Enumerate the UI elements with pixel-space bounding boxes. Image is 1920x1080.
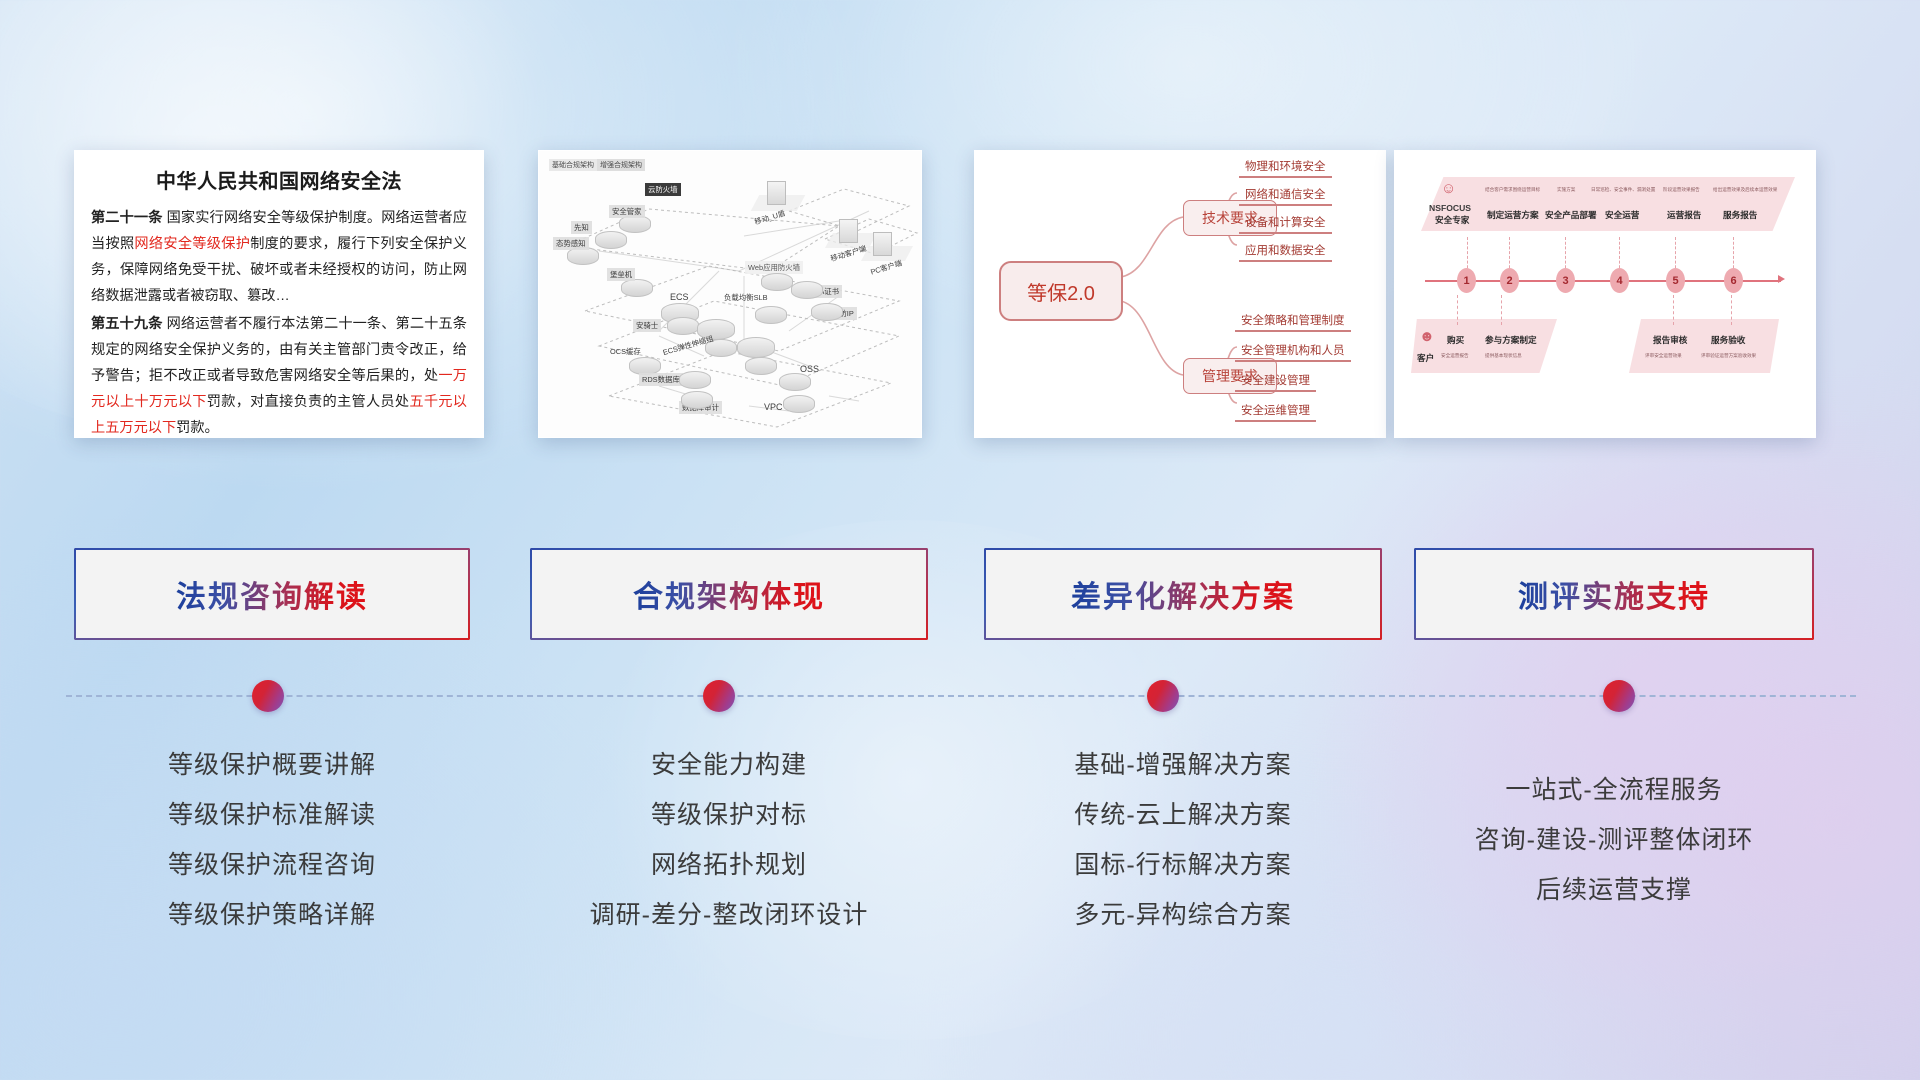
arch-disk-icon-10 <box>667 317 699 335</box>
detail-column-4: 一站式-全流程服务 咨询-建设-测评整体闭环 后续运营支撑 <box>1414 740 1814 915</box>
arch-disk-icon-2 <box>595 231 627 249</box>
arch-node-vpc[interactable]: VPC <box>761 401 786 413</box>
bottom-sub-2: 评审安全运营效果 <box>1645 353 1682 359</box>
bottom-sub-1: 提供基本现状信息 <box>1485 353 1522 359</box>
mindmap-leaf-network-comm[interactable]: 网络和通信安全 <box>1239 185 1332 206</box>
top-sub-0: 结合客户需求围绕运营目标 <box>1485 187 1540 193</box>
nav-box-compliance-architecture[interactable]: 合规架构体现 <box>530 548 928 640</box>
list-item: 咨询-建设-测评整体闭环 <box>1414 815 1814 865</box>
arch-node-anqishi[interactable]: 安骑士 <box>633 319 661 332</box>
timeline-band-vendor <box>1421 177 1795 231</box>
list-item: 网络拓扑规划 <box>530 840 928 890</box>
list-item: 国标-行标解决方案 <box>984 840 1382 890</box>
top-sub-2: 日常巡检、安全事件、漏洞处置 <box>1591 187 1655 193</box>
mindmap-root[interactable]: 等保2.0 <box>999 261 1123 321</box>
arch-node-ocs-cache[interactable]: OCS缓存 <box>607 345 644 358</box>
arch-node-situation-awareness[interactable]: 态势感知 <box>553 237 589 250</box>
step-node-5[interactable]: 5 <box>1666 268 1685 293</box>
law-paragraph-1: 第二十一条 国家实行网络安全等级保护制度。网络运营者应当按照网络安全等级保护制度… <box>91 205 467 309</box>
top-label-3[interactable]: 运营报告 <box>1667 209 1701 221</box>
arch-server-icon-3 <box>873 232 892 256</box>
top-sub-1: 实施方案 <box>1557 187 1575 193</box>
bottom-label-2[interactable]: 报告审核 <box>1653 334 1687 346</box>
law-highlight: 网络安全等级保护 <box>134 236 250 252</box>
timeline-arrow-icon <box>1778 275 1785 283</box>
list-item: 安全能力构建 <box>530 740 928 790</box>
nav-box-differentiated-solution[interactable]: 差异化解决方案 <box>984 548 1382 640</box>
dashed-timeline-line <box>66 695 1856 697</box>
nav-label-3: 测评实施支持 <box>1518 572 1710 616</box>
arch-disk-icon-13 <box>737 337 775 358</box>
bottom-sub-3: 评审验证运营方案验收效果 <box>1701 353 1756 359</box>
cards-row: 中华人民共和国网络安全法 第二十一条 国家实行网络安全等级保护制度。网络运营者应… <box>0 150 1920 442</box>
mindmap-leaf-construction-mgmt[interactable]: 安全建设管理 <box>1235 371 1316 392</box>
nav-box-regulation-consulting[interactable]: 法规咨询解读 <box>74 548 470 640</box>
list-item: 多元-异构综合方案 <box>984 890 1382 940</box>
detail-list-2: 安全能力构建 等级保护对标 网络拓扑规划 调研-差分-整改闭环设计 <box>530 740 928 940</box>
detail-list-3: 基础-增强解决方案 传统-云上解决方案 国标-行标解决方案 多元-异构综合方案 <box>984 740 1382 940</box>
arch-node-cloud-firewall[interactable]: 云防火墙 <box>645 183 681 196</box>
mindmap-leaf-policy-system[interactable]: 安全策略和管理制度 <box>1235 311 1351 332</box>
connector-b4 <box>1731 295 1733 325</box>
arch-disk-icon-18 <box>779 373 811 391</box>
arch-server-icon-2 <box>839 219 858 243</box>
detail-column-2: 安全能力构建 等级保护对标 网络拓扑规划 调研-差分-整改闭环设计 <box>530 740 928 940</box>
timeline-canvas: ☺ NSFOCUS 安全专家 结合客户需求围绕运营目标 制定运营方案 实施方案 … <box>1395 151 1815 437</box>
customer-role: 客户 <box>1417 352 1434 364</box>
arch-tab-0[interactable]: 基础合规架构 <box>549 159 597 171</box>
arch-node-bastion-host[interactable]: 堡垒机 <box>607 268 635 281</box>
mindmap-canvas: 等保2.0 技术要求 物理和环境安全 网络和通信安全 设备和计算安全 应用和数据… <box>975 151 1385 437</box>
top-label-4[interactable]: 服务报告 <box>1723 209 1757 221</box>
bottom-label-0[interactable]: 购买 <box>1447 334 1464 346</box>
vendor-brand: NSFOCUS <box>1429 203 1471 213</box>
step-node-4[interactable]: 4 <box>1610 268 1629 293</box>
top-label-2[interactable]: 安全运营 <box>1605 209 1639 221</box>
list-item: 传统-云上解决方案 <box>984 790 1382 840</box>
mindmap-leaf-app-data[interactable]: 应用和数据安全 <box>1239 241 1332 262</box>
step-node-1[interactable]: 1 <box>1457 268 1476 293</box>
list-item: 等级保护流程咨询 <box>74 840 470 890</box>
timeline-dot-4[interactable] <box>1603 680 1635 712</box>
top-sub-3: 阶段运营效果报告 <box>1663 187 1700 193</box>
arch-disk-icon-5 <box>761 273 793 291</box>
nav-row: 法规咨询解读 合规架构体现 差异化解决方案 测评实施支持 <box>0 548 1920 642</box>
law-article-number: 第五十九条 <box>91 316 163 332</box>
nav-label-2: 差异化解决方案 <box>1071 572 1295 616</box>
arch-disk-icon-6 <box>791 281 823 299</box>
list-item: 等级保护概要讲解 <box>74 740 470 790</box>
law-paragraph-2: 第五十九条 网络运营者不履行本法第二十一条、第二十五条规定的网络安全保护义务的，… <box>91 311 467 438</box>
connector-b3 <box>1673 295 1675 325</box>
mindmap-leaf-physical-env[interactable]: 物理和环境安全 <box>1239 157 1332 178</box>
arch-node-security-butler[interactable]: 安全管家 <box>609 205 645 218</box>
detail-list-4: 一站式-全流程服务 咨询-建设-测评整体闭环 后续运营支撑 <box>1414 765 1814 915</box>
detail-lists: 等级保护概要讲解 等级保护标准解读 等级保护流程咨询 等级保护策略详解 安全能力… <box>0 740 1920 970</box>
list-item: 等级保护对标 <box>530 790 928 840</box>
timeline-dot-2[interactable] <box>703 680 735 712</box>
detail-column-1: 等级保护概要讲解 等级保护标准解读 等级保护流程咨询 等级保护策略详解 <box>74 740 470 940</box>
arch-disk-icon-19 <box>783 395 815 413</box>
mindmap-leaf-device-compute[interactable]: 设备和计算安全 <box>1239 213 1332 234</box>
arch-disk-icon-14 <box>745 357 777 375</box>
card-service-timeline[interactable]: ☺ NSFOCUS 安全专家 结合客户需求围绕运营目标 制定运营方案 实施方案 … <box>1394 150 1816 438</box>
law-title: 中华人民共和国网络安全法 <box>91 165 467 194</box>
card-mindmap[interactable]: 等保2.0 技术要求 物理和环境安全 网络和通信安全 设备和计算安全 应用和数据… <box>974 150 1386 438</box>
architecture-canvas: 基础合规架构 增强合规架构 云防火墙 安全管家 先知 态势感知 堡垒机 移动_U… <box>539 151 921 437</box>
step-node-6[interactable]: 6 <box>1724 268 1743 293</box>
arch-disk-icon-9 <box>755 306 787 324</box>
top-label-0[interactable]: 制定运营方案 <box>1487 209 1539 221</box>
bottom-label-1[interactable]: 参与方案制定 <box>1485 334 1537 346</box>
timeline-dot-3[interactable] <box>1147 680 1179 712</box>
bottom-label-3[interactable]: 服务验收 <box>1711 334 1745 346</box>
timeline-dot-1[interactable] <box>252 680 284 712</box>
connector-b1 <box>1457 295 1459 325</box>
arch-tab-1[interactable]: 增强合规架构 <box>597 159 645 171</box>
arch-disk-icon-16 <box>679 371 711 389</box>
customer-icon: ☻ <box>1419 329 1435 344</box>
vendor-role: 安全专家 <box>1435 214 1469 226</box>
law-text: 罚款。 <box>176 420 219 436</box>
bottom-sub-0: 安全运营报告 <box>1441 353 1469 359</box>
law-body: 中华人民共和国网络安全法 第二十一条 国家实行网络安全等级保护制度。网络运营者应… <box>75 151 483 437</box>
step-node-3[interactable]: 3 <box>1556 268 1575 293</box>
list-item: 等级保护策略详解 <box>74 890 470 940</box>
law-article-number: 第二十一条 <box>91 210 163 226</box>
arch-disk-icon-17 <box>681 391 713 409</box>
nav-label-0: 法规咨询解读 <box>176 572 368 616</box>
arch-node-ecs[interactable]: ECS <box>667 291 692 303</box>
list-item: 等级保护标准解读 <box>74 790 470 840</box>
list-item: 基础-增强解决方案 <box>984 740 1382 790</box>
nav-box-evaluation-support[interactable]: 测评实施支持 <box>1414 548 1814 640</box>
arch-node-xianzhi[interactable]: 先知 <box>571 221 592 234</box>
list-item: 一站式-全流程服务 <box>1414 765 1814 815</box>
arch-server-icon-1 <box>767 181 786 205</box>
arch-disk-icon-7 <box>811 303 843 321</box>
mindmap-leaf-ops-mgmt[interactable]: 安全运维管理 <box>1235 401 1316 422</box>
arch-disk-icon-4 <box>621 279 653 297</box>
arch-node-waf[interactable]: Web应用防火墙 <box>745 261 803 274</box>
nav-label-1: 合规架构体现 <box>633 572 825 616</box>
vendor-expert-icon: ☺ <box>1441 181 1456 196</box>
list-item: 调研-差分-整改闭环设计 <box>530 890 928 940</box>
step-node-2[interactable]: 2 <box>1500 268 1519 293</box>
arch-node-rds-db[interactable]: RDS数据库 <box>639 373 683 386</box>
detail-column-3: 基础-增强解决方案 传统-云上解决方案 国标-行标解决方案 多元-异构综合方案 <box>984 740 1382 940</box>
detail-list-1: 等级保护概要讲解 等级保护标准解读 等级保护流程咨询 等级保护策略详解 <box>74 740 470 940</box>
arch-node-slb[interactable]: 负载均衡SLB <box>721 291 771 304</box>
connector-b2 <box>1501 295 1503 325</box>
top-label-1[interactable]: 安全产品部署 <box>1545 209 1597 221</box>
timeline-band-customer-right <box>1629 319 1779 373</box>
card-architecture-diagram[interactable]: 基础合规架构 增强合规架构 云防火墙 安全管家 先知 态势感知 堡垒机 移动_U… <box>538 150 922 438</box>
card-law-text[interactable]: 中华人民共和国网络安全法 第二十一条 国家实行网络安全等级保护制度。网络运营者应… <box>74 150 484 438</box>
top-sub-4: 给出运营效果及后续本运营效果 <box>1713 187 1777 193</box>
list-item: 后续运营支撑 <box>1414 865 1814 915</box>
mindmap-leaf-org-personnel[interactable]: 安全管理机构和人员 <box>1235 341 1351 362</box>
law-text: 罚款，对直接负责的主管人员处 <box>207 394 410 410</box>
